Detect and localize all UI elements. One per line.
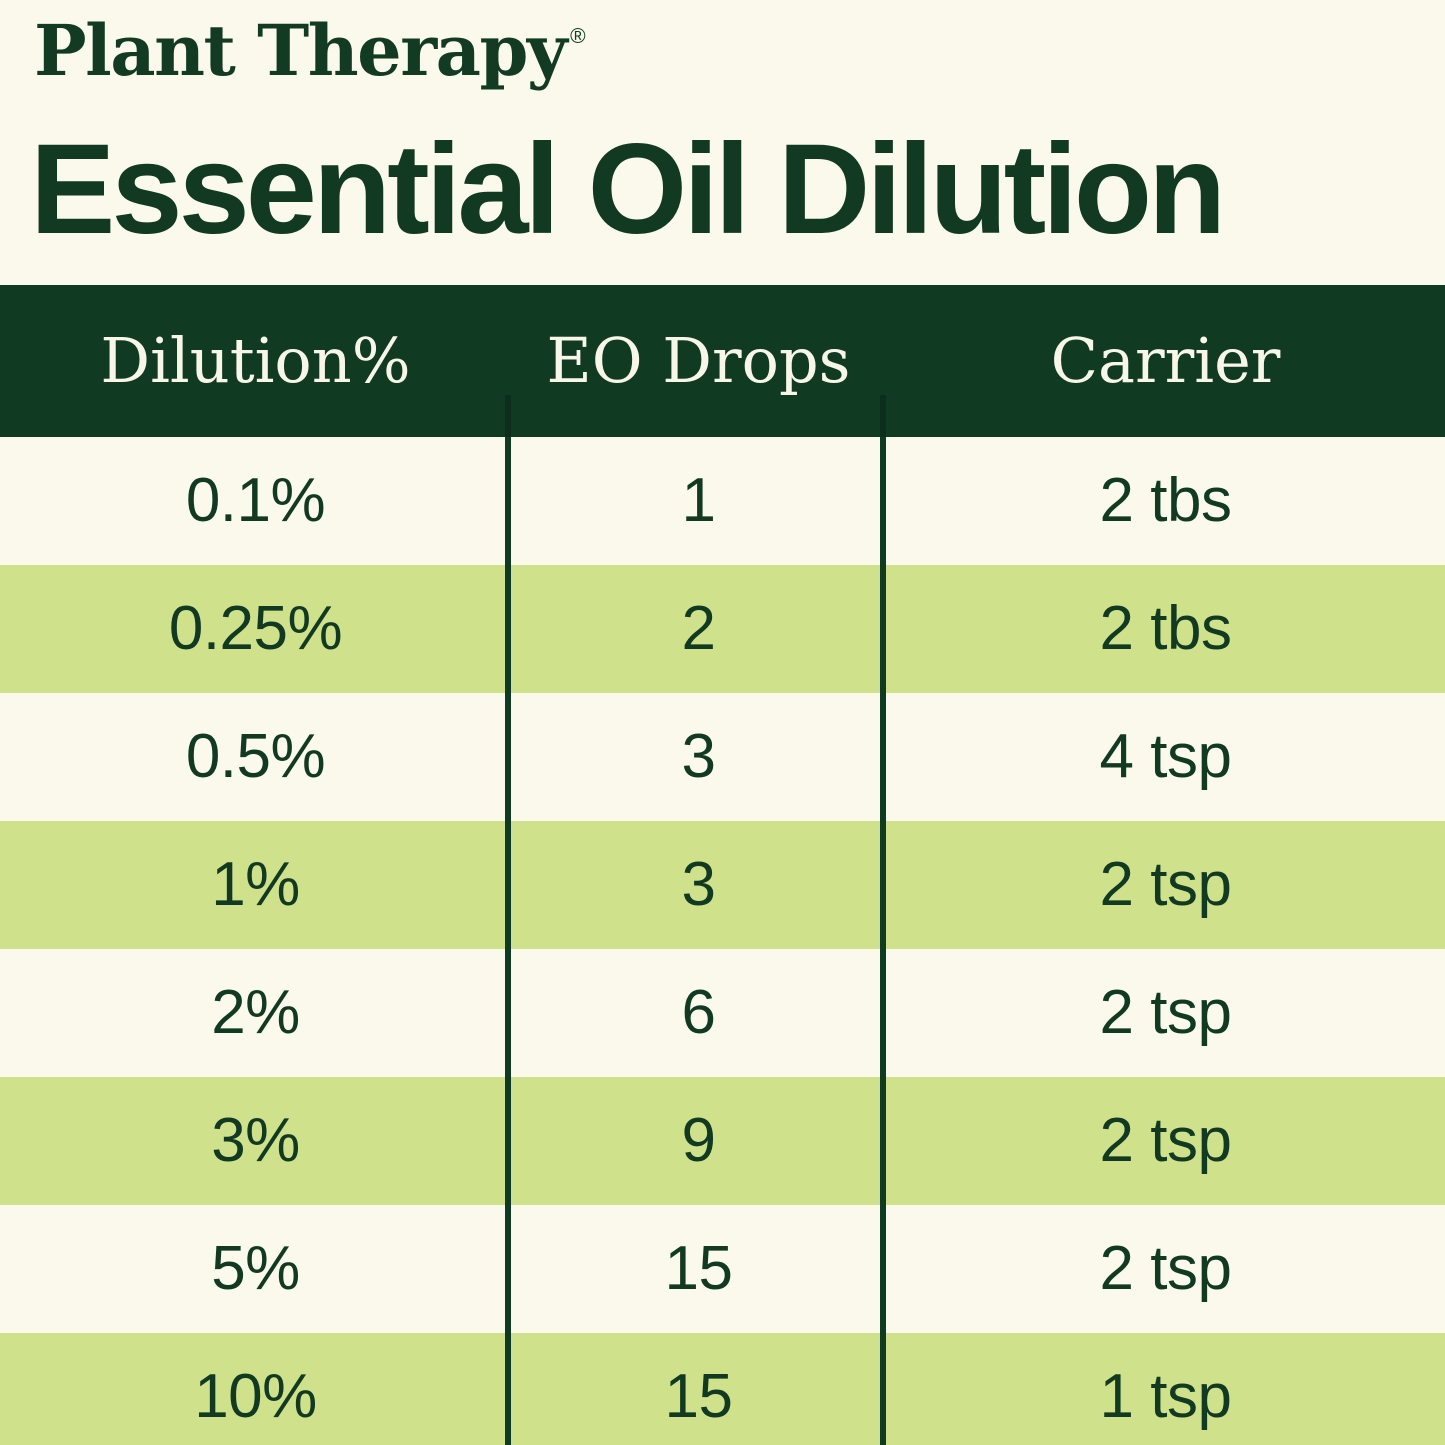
cell-eo-drops-value: 15 bbox=[665, 1366, 733, 1428]
cell-dilution-value: 3% bbox=[211, 1110, 300, 1172]
cell-carrier-value: 2 tsp bbox=[1100, 982, 1232, 1044]
cell-dilution: 10% bbox=[0, 1333, 511, 1445]
cell-dilution: 2% bbox=[0, 949, 511, 1077]
cell-eo-drops: 6 bbox=[511, 949, 886, 1077]
cell-dilution-value: 0.25% bbox=[169, 598, 342, 660]
cell-dilution-value: 0.5% bbox=[186, 726, 325, 788]
cell-carrier: 2 tbs bbox=[886, 565, 1445, 693]
cell-dilution: 3% bbox=[0, 1077, 511, 1205]
column-header-carrier-label: Carrier bbox=[1051, 330, 1281, 392]
cell-carrier-value: 2 tsp bbox=[1100, 1238, 1232, 1300]
cell-carrier: 2 tsp bbox=[886, 949, 1445, 1077]
cell-dilution: 0.1% bbox=[0, 437, 511, 565]
registered-trademark-icon: ® bbox=[570, 26, 585, 47]
cell-eo-drops: 15 bbox=[511, 1205, 886, 1333]
column-header-carrier: Carrier bbox=[886, 285, 1445, 437]
cell-eo-drops-value: 1 bbox=[682, 470, 716, 532]
cell-eo-drops-value: 2 bbox=[682, 598, 716, 660]
cell-dilution-value: 1% bbox=[211, 854, 300, 916]
brand-name: Plant Therapy bbox=[34, 16, 566, 86]
table-row: 0.25% 2 2 tbs bbox=[0, 565, 1445, 693]
table-row: 0.5% 3 4 tsp bbox=[0, 693, 1445, 821]
cell-eo-drops: 2 bbox=[511, 565, 886, 693]
cell-carrier-value: 2 tsp bbox=[1100, 854, 1232, 916]
cell-eo-drops: 1 bbox=[511, 437, 886, 565]
cell-carrier-value: 2 tsp bbox=[1100, 1110, 1232, 1172]
table-row: 2% 6 2 tsp bbox=[0, 949, 1445, 1077]
table-row: 0.1% 1 2 tbs bbox=[0, 437, 1445, 565]
column-header-dilution-label: Dilution% bbox=[100, 330, 410, 392]
cell-eo-drops-value: 6 bbox=[682, 982, 716, 1044]
cell-carrier-value: 1 tsp bbox=[1100, 1366, 1232, 1428]
cell-dilution-value: 5% bbox=[211, 1238, 300, 1300]
cell-carrier: 2 tsp bbox=[886, 821, 1445, 949]
cell-eo-drops-value: 3 bbox=[682, 726, 716, 788]
cell-eo-drops: 3 bbox=[511, 821, 886, 949]
cell-eo-drops: 9 bbox=[511, 1077, 886, 1205]
cell-carrier: 2 tbs bbox=[886, 437, 1445, 565]
cell-eo-drops-value: 15 bbox=[665, 1238, 733, 1300]
column-header-dilution: Dilution% bbox=[0, 285, 511, 437]
cell-eo-drops-value: 9 bbox=[682, 1110, 716, 1172]
cell-carrier: 2 tsp bbox=[886, 1077, 1445, 1205]
dilution-infographic: Plant Therapy ® Essential Oil Dilution D… bbox=[0, 0, 1445, 1445]
cell-dilution-value: 2% bbox=[211, 982, 300, 1044]
table-row: 10% 15 1 tsp bbox=[0, 1333, 1445, 1445]
brand-logo: Plant Therapy ® bbox=[34, 16, 586, 86]
table-row: 1% 3 2 tsp bbox=[0, 821, 1445, 949]
table-header-row: Dilution% EO Drops Carrier bbox=[0, 285, 1445, 437]
cell-carrier: 4 tsp bbox=[886, 693, 1445, 821]
cell-dilution-value: 0.1% bbox=[186, 470, 325, 532]
cell-dilution: 0.25% bbox=[0, 565, 511, 693]
cell-carrier: 1 tsp bbox=[886, 1333, 1445, 1445]
column-header-eo-drops-label: EO Drops bbox=[547, 330, 851, 392]
dilution-table: Dilution% EO Drops Carrier 0.1% 1 2 tbs … bbox=[0, 285, 1445, 1445]
header-block: Plant Therapy ® Essential Oil Dilution bbox=[0, 0, 1445, 285]
cell-dilution: 1% bbox=[0, 821, 511, 949]
table-row: 3% 9 2 tsp bbox=[0, 1077, 1445, 1205]
cell-carrier-value: 2 tbs bbox=[1100, 470, 1232, 532]
page-title: Essential Oil Dilution bbox=[30, 126, 1222, 254]
cell-carrier-value: 4 tsp bbox=[1100, 726, 1232, 788]
cell-eo-drops: 3 bbox=[511, 693, 886, 821]
cell-dilution: 0.5% bbox=[0, 693, 511, 821]
cell-dilution-value: 10% bbox=[194, 1366, 317, 1428]
cell-carrier: 2 tsp bbox=[886, 1205, 1445, 1333]
cell-dilution: 5% bbox=[0, 1205, 511, 1333]
column-header-eo-drops: EO Drops bbox=[511, 285, 886, 437]
cell-eo-drops-value: 3 bbox=[682, 854, 716, 916]
cell-carrier-value: 2 tbs bbox=[1100, 598, 1232, 660]
cell-eo-drops: 15 bbox=[511, 1333, 886, 1445]
table-row: 5% 15 2 tsp bbox=[0, 1205, 1445, 1333]
